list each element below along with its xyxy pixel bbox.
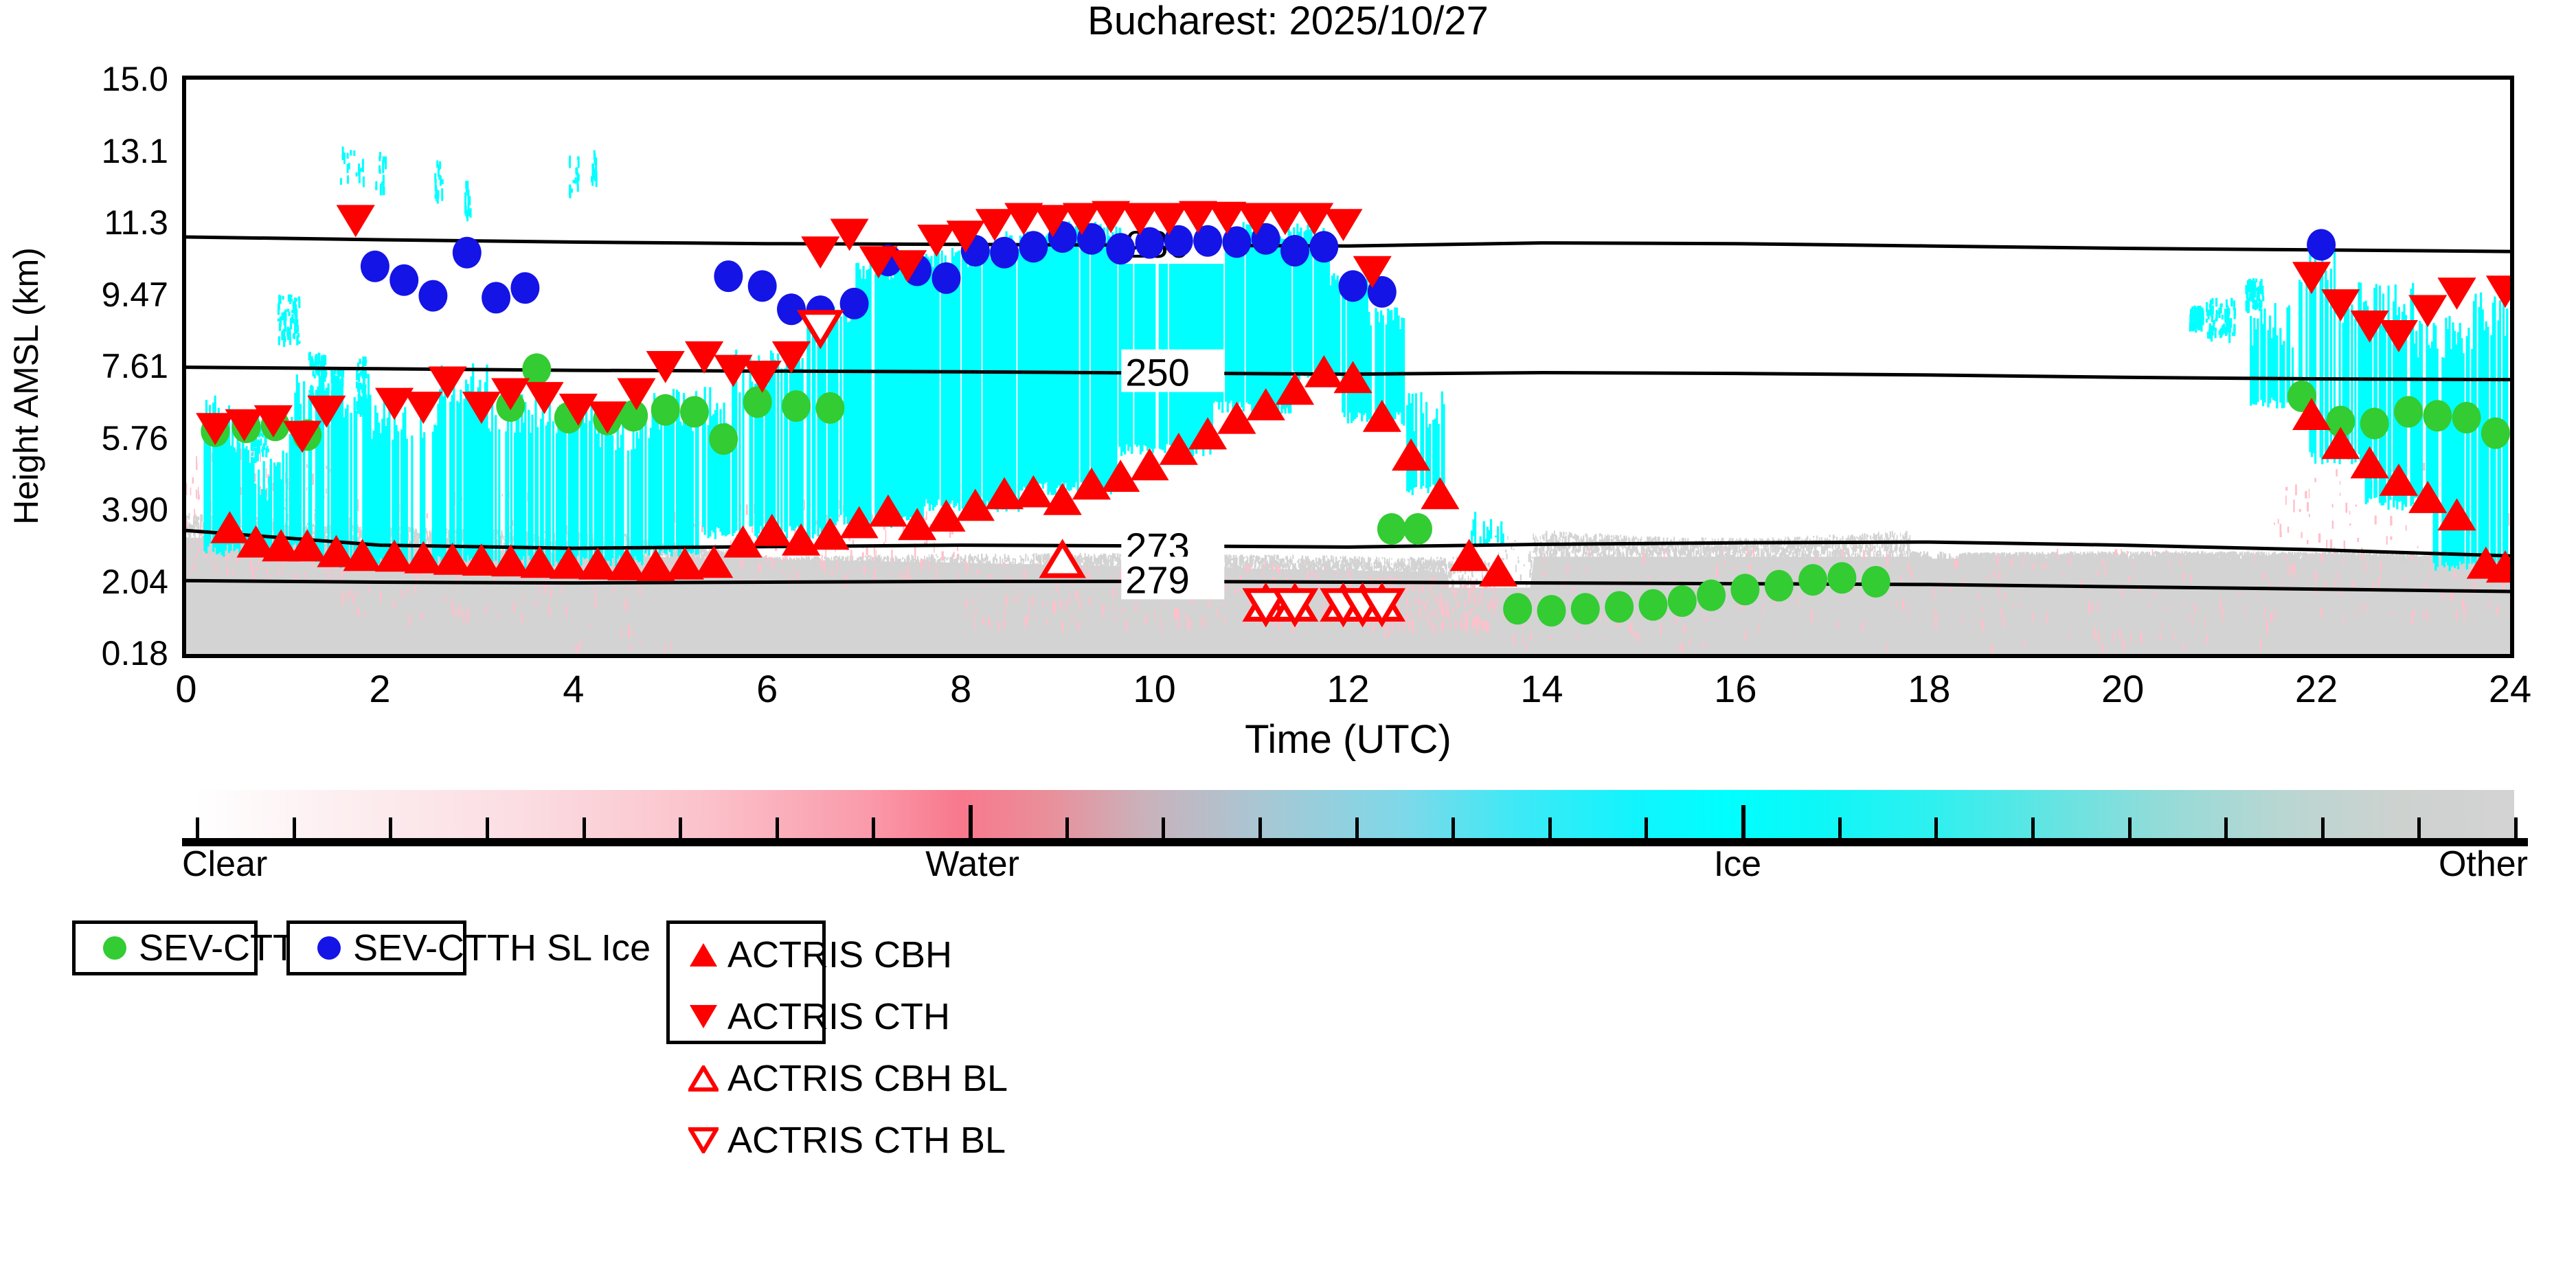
triangle-down-hollow-icon [679,1127,727,1153]
colorbar-tick [1645,817,1648,838]
colorbar-label: Water [883,846,1062,882]
colorbar-tick [196,817,199,838]
x-tick-label: 18 [1860,670,1998,708]
colorbar-tick [389,817,392,838]
y-tick-label: 5.76 [0,421,168,455]
colorbar-tick [1548,817,1552,838]
legend-sev-ctth-sl-wat[interactable]: SEV-CTTH SL Wat [72,920,258,975]
triangle-down-filled-icon [679,1005,727,1028]
chart-root: Bucharest: 2025/10/27 Height AMSL (km) 1… [0,0,2576,1288]
x-tick-label: 2 [311,670,449,708]
x-tick-label: 4 [505,670,642,708]
colorbar-axis-line [182,838,2528,846]
colorbar-tick [486,817,489,838]
x-tick-label: 16 [1667,670,1804,708]
legend-label-actris-cbh-bl: ACTRIS CBH BL [727,1060,1008,1097]
colorbar-tick [1258,817,1262,838]
colorbar-tick [2128,817,2132,838]
colorbar-tick [1838,817,1842,838]
colorbar-tick [679,817,682,838]
colorbar-tick [776,817,779,838]
colorbar-tick [2321,817,2325,838]
colorbar-tick [1065,817,1069,838]
colorbar-tick [1741,805,1745,838]
x-tick-label: 24 [2441,670,2576,708]
y-tick-label: 0.18 [0,636,168,670]
x-tick-label: 10 [1086,670,1223,708]
y-tick-label: 15.0 [0,62,168,96]
colorbar-tick [872,817,875,838]
colorbar [196,790,2514,838]
colorbar-tick [1934,817,1938,838]
x-tick-label: 20 [2054,670,2191,708]
legend-label-sev-ice: SEV-CTTH SL Ice [353,929,651,967]
y-tick-label: 3.90 [0,493,168,527]
colorbar-tick [1451,817,1455,838]
green-circle-icon [91,936,139,960]
colorbar-tick [2514,817,2518,838]
colorbar-tick [2224,817,2228,838]
blue-circle-icon [305,936,353,960]
plot-area: 230250273279 [182,76,2514,658]
y-tick-label: 13.1 [0,134,168,168]
legend-actris[interactable]: ACTRIS CBH ACTRIS CTH ACTRIS CBH BL ACTR… [666,920,826,1044]
x-tick-label: 0 [117,670,255,708]
x-tick-label: 14 [1473,670,1610,708]
page-title: Bucharest: 2025/10/27 [0,1,2576,41]
triangle-up-filled-icon [679,943,727,967]
legend-label-actris-cth-bl: ACTRIS CTH BL [727,1122,1006,1159]
colorbar-label: Other [2349,846,2528,882]
colorbar-tick [1355,817,1359,838]
y-tick-label: 9.47 [0,278,168,312]
legend-sev-ctth-sl-ice[interactable]: SEV-CTTH SL Ice [286,920,466,975]
colorbar-tick [2031,817,2035,838]
x-tick-label: 6 [699,670,836,708]
x-tick-label: 8 [892,670,1030,708]
colorbar-tick [1162,817,1165,838]
x-tick-label: 22 [2248,670,2385,708]
colorbar-tick [583,817,586,838]
legend-label-actris-cbh: ACTRIS CBH [727,936,952,973]
x-tick-label: 12 [1280,670,1417,708]
y-tick-label: 7.61 [0,349,168,383]
colorbar-tick [969,805,973,838]
plot-canvas: 230250273279 [186,80,2510,654]
legend-label-actris-cth: ACTRIS CTH [727,998,950,1035]
colorbar-tick [2417,817,2421,838]
colorbar-label: Clear [182,846,361,882]
y-tick-label: 11.3 [0,205,168,240]
colorbar-label: Ice [1648,846,1827,882]
colorbar-tick [293,817,296,838]
triangle-up-hollow-icon [679,1065,727,1092]
y-tick-label: 2.04 [0,565,168,599]
x-axis-label: Time (UTC) [182,716,2514,762]
